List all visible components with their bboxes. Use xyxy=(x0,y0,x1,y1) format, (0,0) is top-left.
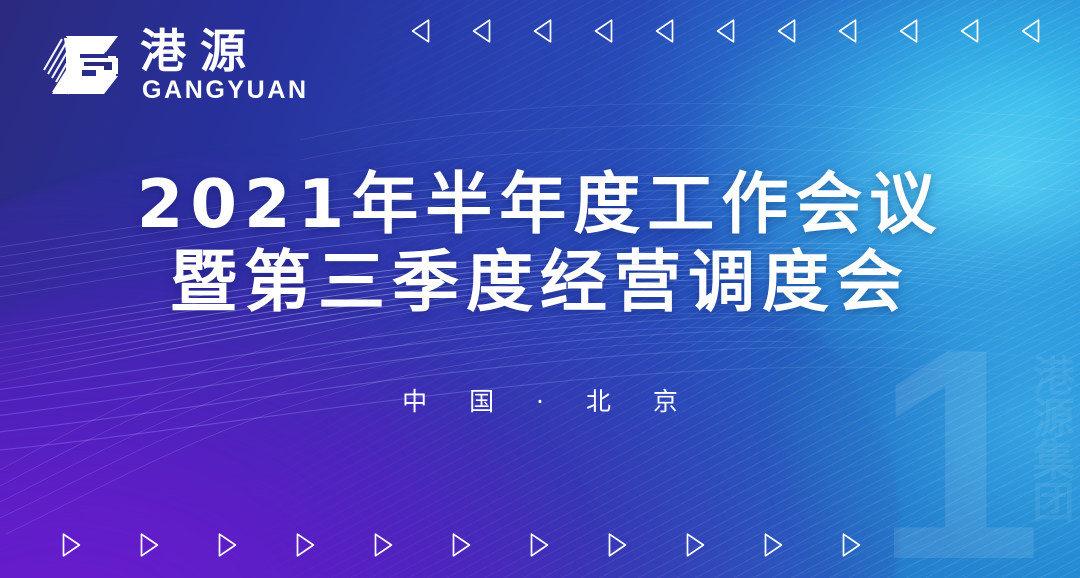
triangle-left-outline-icon xyxy=(715,18,737,44)
triangle-right-outline-icon xyxy=(762,532,784,558)
triangle-right-outline-icon xyxy=(606,532,628,558)
brand-name-english: GANGYUAN xyxy=(142,78,309,103)
triangle-left-outline-icon xyxy=(898,18,920,44)
triangle-right-outline-icon xyxy=(138,532,160,558)
triangle-right-outline-icon xyxy=(294,532,316,558)
brand-logo-text: 港源 GANGYUAN xyxy=(140,27,309,102)
conference-title: 2021年半年度工作会议 暨第三季度经营调度会 xyxy=(0,168,1080,326)
triangle-left-outline-icon xyxy=(593,18,615,44)
triangle-left-outline-icon xyxy=(654,18,676,44)
decorative-big-number: 1 xyxy=(875,304,1036,578)
triangle-left-outline-icon xyxy=(776,18,798,44)
triangle-right-outline-icon xyxy=(450,532,472,558)
bottom-triangle-row xyxy=(60,532,862,558)
triangle-left-outline-icon xyxy=(837,18,859,44)
top-triangle-row xyxy=(410,18,1042,44)
triangle-left-outline-icon xyxy=(471,18,493,44)
triangle-left-outline-icon xyxy=(1020,18,1042,44)
conference-title-line-2: 暨第三季度经营调度会 xyxy=(0,240,1080,326)
triangle-right-outline-icon xyxy=(60,532,82,558)
triangle-right-outline-icon xyxy=(684,532,706,558)
triangle-right-outline-icon xyxy=(840,532,862,558)
conference-title-line-1: 2021年半年度工作会议 xyxy=(0,168,1080,240)
triangle-left-outline-icon xyxy=(959,18,981,44)
triangle-right-outline-icon xyxy=(528,532,550,558)
triangle-right-outline-icon xyxy=(216,532,238,558)
triangle-left-outline-icon xyxy=(532,18,554,44)
brand-logo: 港源 GANGYUAN xyxy=(38,26,309,104)
conference-location-subtitle: 中 国 · 北 京 xyxy=(0,382,1080,418)
triangle-left-outline-icon xyxy=(410,18,432,44)
brand-name-chinese: 港源 xyxy=(140,27,309,75)
triangle-right-outline-icon xyxy=(372,532,394,558)
gangyuan-g-logo-icon xyxy=(38,26,122,104)
conference-banner: 1 港源集团 港源 GANGYUAN xyxy=(0,0,1080,578)
decorative-watermark-text: 港源集团 xyxy=(998,318,1072,558)
